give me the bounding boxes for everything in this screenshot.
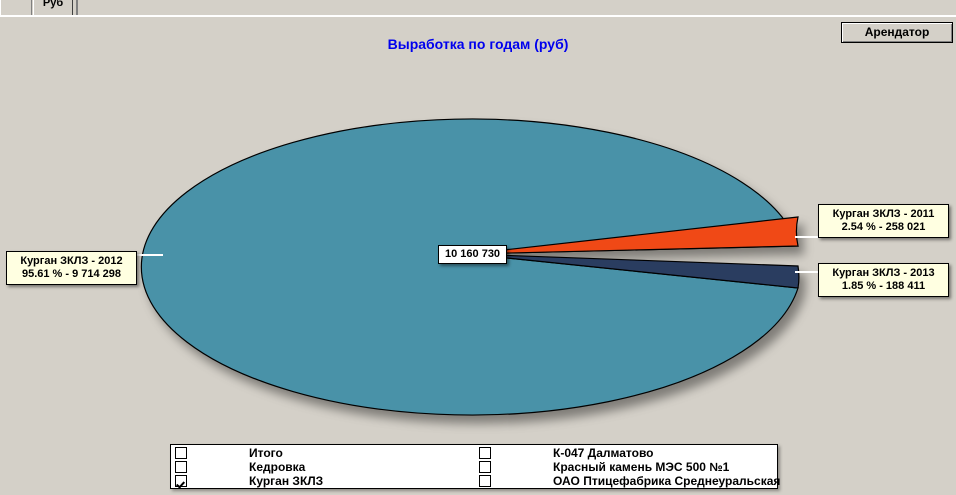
list-item[interactable]: К-047 Далматово <box>475 446 777 460</box>
data-label-2011: Курган ЗКЛЗ - 2011 2.54 % - 258 021 <box>818 204 949 238</box>
data-label-2013: Курган ЗКЛЗ - 2013 1.85 % - 188 411 <box>818 263 949 297</box>
pie-slices-group <box>141 119 799 415</box>
checkbox-icon[interactable] <box>175 461 187 473</box>
pie-slice-2012 <box>141 119 798 415</box>
legend-item-label: ОАО Птицефабрика Среднеуральская <box>553 474 780 488</box>
list-item[interactable]: Красный камень МЭС 500 №1 <box>475 460 777 474</box>
list-item[interactable]: Итого <box>171 446 475 460</box>
page-title: Выработка по годам (руб) <box>0 36 956 52</box>
list-item[interactable]: Курган ЗКЛЗ <box>171 474 475 488</box>
tab-rub[interactable]: Руб <box>33 0 73 15</box>
legend-item-label: К-047 Далматово <box>553 446 654 460</box>
legend-column-right: К-047 Далматово Красный камень МЭС 500 №… <box>475 445 777 488</box>
pie-slice-2013 <box>468 254 799 288</box>
pie-slice-2011 <box>468 217 798 254</box>
data-label-2011-name: Курган ЗКЛЗ - 2011 <box>833 208 935 220</box>
checkbox-icon[interactable] <box>175 447 187 459</box>
checkbox-icon[interactable] <box>479 475 491 487</box>
legend-item-label: Кедровка <box>249 460 305 474</box>
data-label-2011-value: 2.54 % - 258 021 <box>825 221 942 234</box>
arendator-button[interactable]: Арендатор <box>841 22 953 43</box>
checkbox-icon[interactable] <box>479 461 491 473</box>
list-item[interactable]: Кедровка <box>171 460 475 474</box>
checkbox-checked-icon[interactable] <box>175 475 187 487</box>
chart-panel: Выработка по годам (руб) Арендатор Кур <box>0 18 956 495</box>
legend-item-label: Итого <box>249 446 283 460</box>
tab-strip: Руб <box>0 0 956 15</box>
data-label-2012-value: 95.61 % - 9 714 298 <box>13 268 130 281</box>
data-label-2012: Курган ЗКЛЗ - 2012 95.61 % - 9 714 298 <box>6 251 137 285</box>
tab-strip-filler <box>78 0 956 15</box>
data-label-2012-name: Курган ЗКЛЗ - 2012 <box>20 255 122 267</box>
data-label-2013-name: Курган ЗКЛЗ - 2013 <box>832 267 934 279</box>
legend-item-label: Курган ЗКЛЗ <box>249 474 323 488</box>
data-label-2013-value: 1.85 % - 188 411 <box>825 280 942 293</box>
list-item[interactable]: ОАО Птицефабрика Среднеуральская <box>475 474 777 488</box>
tab-inactive[interactable] <box>0 0 32 15</box>
leader-line-2012 <box>137 254 163 256</box>
legend-column-left: Итого Кедровка Курган ЗКЛЗ <box>171 445 475 488</box>
total-value-label: 10 160 730 <box>438 245 507 264</box>
leader-line-2011 <box>795 236 820 238</box>
legend-box: Итого Кедровка Курган ЗКЛЗ К-047 Далмато… <box>170 444 778 489</box>
checkbox-icon[interactable] <box>479 447 491 459</box>
leader-line-2013 <box>795 271 820 273</box>
legend-item-label: Красный камень МЭС 500 №1 <box>553 460 729 474</box>
